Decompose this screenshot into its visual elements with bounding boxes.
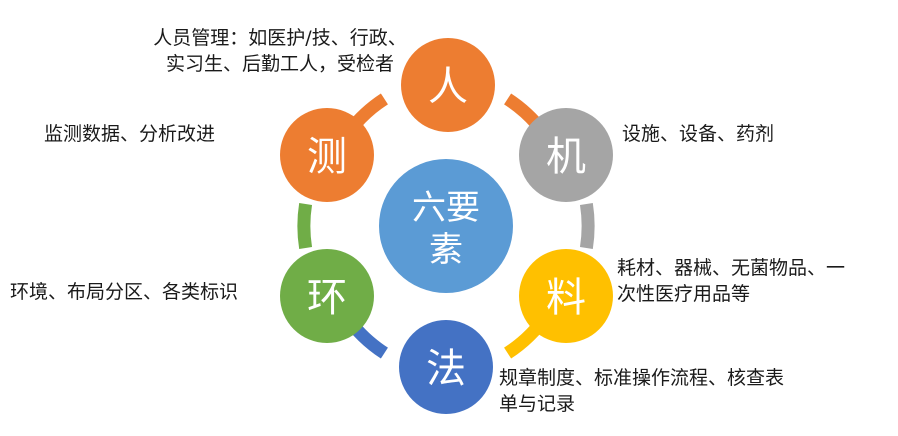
center-hub-label-line2: 素 (429, 230, 463, 270)
node-liao[interactable]: 料 (519, 249, 613, 343)
callout-ren: 人员管理：如医护/技、行政、 实习生、后勤工人，受检者 (115, 26, 445, 77)
arc-huan-to-ce (304, 204, 306, 248)
node-ji-label: 机 (546, 134, 586, 180)
center-hub-label-line1: 六要 (412, 188, 480, 228)
node-fa[interactable]: 法 (399, 320, 493, 414)
callout-fa: 规章制度、标准操作流程、核查表 单与记录 (499, 366, 829, 417)
callout-huan: 环境、布局分区、各类标识 (10, 280, 280, 306)
node-fa-label: 法 (426, 346, 466, 392)
node-ji[interactable]: 机 (519, 108, 613, 202)
node-ce-label: 测 (307, 134, 347, 180)
center-hub: 六要 素 (379, 159, 513, 293)
callout-liao: 耗材、器械、无菌物品、一 次性医疗用品等 (617, 256, 895, 307)
node-liao-label: 料 (546, 275, 586, 321)
node-huan-label: 环 (307, 275, 347, 321)
callout-ji: 设施、设备、药剂 (622, 122, 872, 148)
node-huan[interactable]: 环 (280, 249, 374, 343)
arc-ji-to-liao (586, 204, 588, 248)
six-elements-diagram: 六要 素 人 机 料 法 环 测 人员管理：如医护/技、行政 (0, 0, 898, 436)
callout-ce: 监测数据、分析改进 (44, 122, 284, 148)
node-ce[interactable]: 测 (280, 108, 374, 202)
